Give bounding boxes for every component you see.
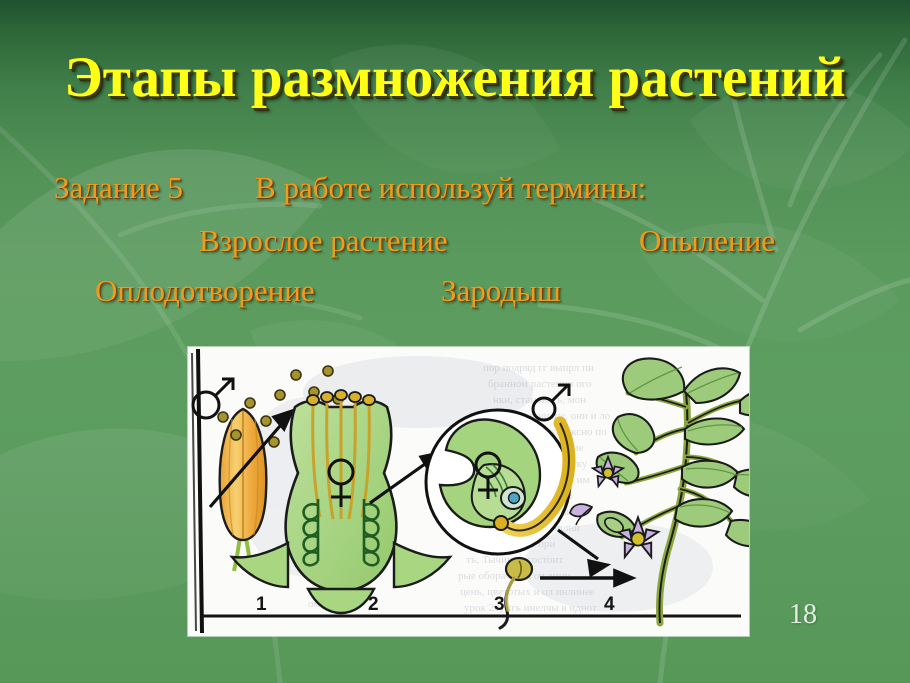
term-pollination: Опыление <box>639 223 775 259</box>
stage-number-4: 4 <box>604 594 615 616</box>
instruction-text: В работе используй термины: <box>255 170 646 205</box>
task-label: Задание 5 <box>54 170 183 205</box>
slide-title: Этапы размножения растений <box>0 48 910 108</box>
stage-number-3: 3 <box>494 594 505 616</box>
page-number: 18 <box>789 599 817 631</box>
term-fertilization: Оплодотворение <box>95 273 315 309</box>
task-instruction-line: Задание 5В работе используй термины: <box>54 170 646 206</box>
plant-reproduction-diagram: пор подряд гг выпрл пи бранном растении … <box>188 347 749 636</box>
stage-number-2: 2 <box>368 594 379 616</box>
slide-canvas: Этапы размножения растений Задание 5В ра… <box>0 0 910 683</box>
term-embryo: Зародыш <box>441 273 561 309</box>
term-adult-plant: Взрослое растение <box>199 223 448 259</box>
stage-number-1: 1 <box>256 594 267 616</box>
